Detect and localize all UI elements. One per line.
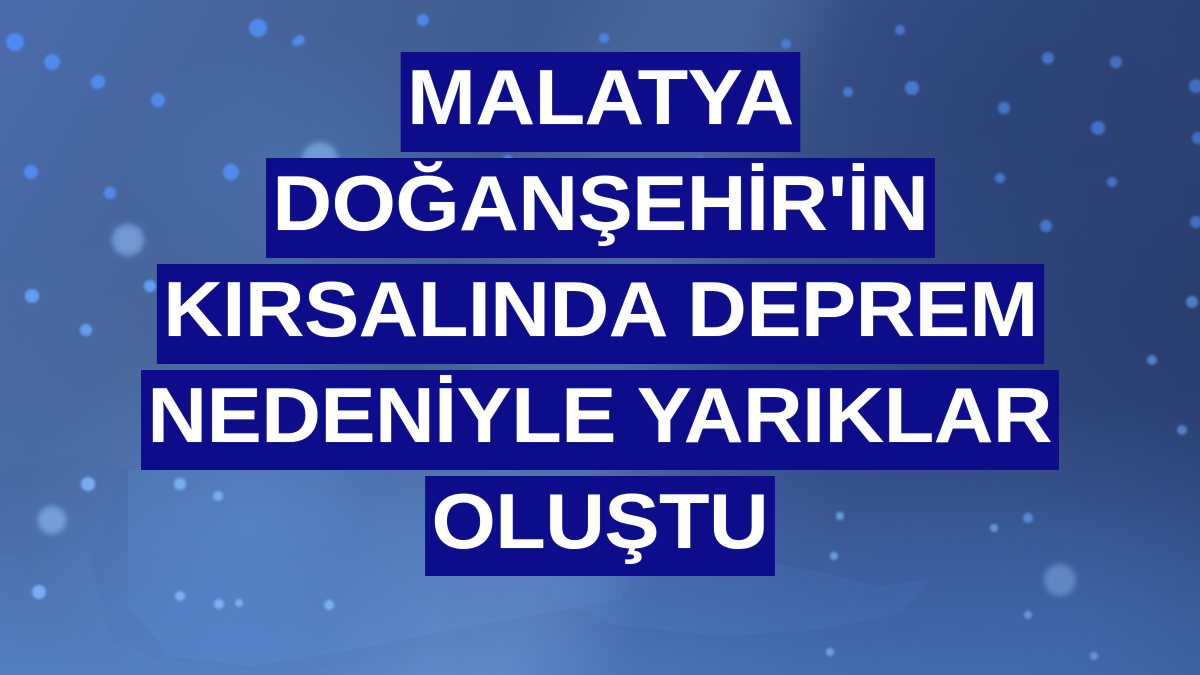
headline-line-2: DOĞANŞEHİR'İN xyxy=(266,158,935,258)
headline-line-3: KIRSALINDA DEPREM xyxy=(156,264,1043,364)
headline-line-1: MALATYA xyxy=(400,52,799,152)
headline-card: MALATYA DOĞANŞEHİR'İN KIRSALINDA DEPREM … xyxy=(0,0,1200,675)
headline-block: MALATYA DOĞANŞEHİR'İN KIRSALINDA DEPREM … xyxy=(0,52,1200,582)
headline-line-5: OLUŞTU xyxy=(425,476,774,576)
headline-line-4: NEDENİYLE YARIKLAR xyxy=(141,370,1058,470)
